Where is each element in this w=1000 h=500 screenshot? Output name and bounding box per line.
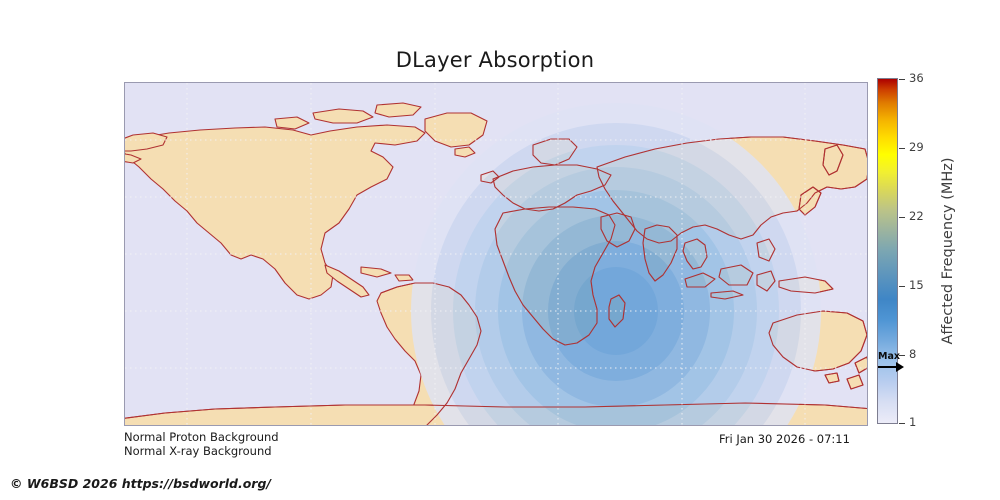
tick-line [899,217,905,218]
colorbar-tick-label: 29 [909,140,924,154]
colorbar-axis-label: Affected Frequency (MHz) [938,78,959,424]
colorbar-tick-label: 22 [909,209,924,223]
colorbar-gradient [877,78,898,424]
colorbar-tick-label: 15 [909,278,924,292]
colorbar-tick-8: 8 [899,355,939,356]
page-title: DLayer Absorption [0,48,990,72]
colorbar-tick-36: 36 [899,79,939,80]
colorbar-tick-label: 36 [909,71,924,85]
colorbar-tick-label: 1 [909,415,916,429]
status-proton-background: Normal Proton Background [124,430,279,444]
timestamp: Fri Jan 30 2026 - 07:11 [719,432,850,446]
tick-line [899,148,905,149]
colorbar-tick-29: 29 [899,148,939,149]
colorbar-tick-15: 15 [899,286,939,287]
tick-line [899,286,905,287]
colorbar-tick-label: 8 [909,347,916,361]
world-map-panel[interactable] [124,82,868,426]
tick-line [899,79,905,80]
tick-line [899,355,905,356]
copyright-notice: © W6BSD 2026 https://bsdworld.org/ [10,476,271,491]
colorbar-tick-1: 1 [899,423,939,424]
land-canada-arctic-1 [313,109,373,123]
status-xray-background: Normal X-ray Background [124,444,272,458]
colorbar-tick-22: 22 [899,217,939,218]
tick-line [899,423,905,424]
colorbar[interactable]: 36 29 22 15 8 1 [877,78,898,424]
world-map-svg [125,83,867,425]
